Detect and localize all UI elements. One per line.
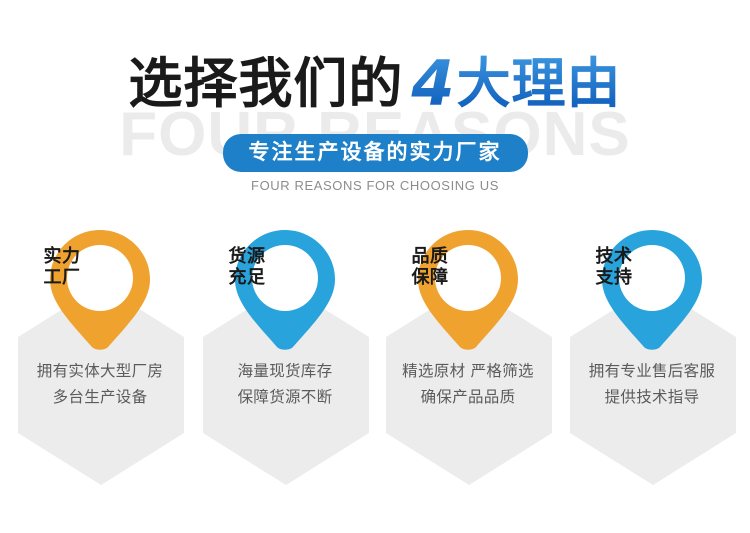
- promo-banner: FOUR REASONS 选择我们的4大理由 专注生产设备的实力厂家 FOUR …: [0, 0, 750, 533]
- title-suffix: 大理由: [457, 52, 622, 115]
- card-desc-line2: 提供技术指导: [562, 384, 742, 410]
- card-desc-line1: 拥有实体大型厂房: [10, 358, 190, 384]
- title-number: 4: [403, 47, 456, 120]
- card-description: 拥有专业售后客服 提供技术指导: [562, 358, 742, 410]
- badge-container: 专注生产设备的实力厂家: [0, 134, 750, 172]
- tagline-badge: 专注生产设备的实力厂家: [223, 134, 528, 172]
- reason-card: 货源 充足 海量现货库存 保障货源不断: [195, 228, 375, 528]
- header-section: FOUR REASONS 选择我们的4大理由 专注生产设备的实力厂家 FOUR …: [0, 0, 750, 215]
- title-prefix: 选择我们的: [128, 52, 403, 115]
- card-description: 拥有实体大型厂房 多台生产设备: [10, 358, 190, 410]
- card-desc-line2: 确保产品品质: [378, 384, 558, 410]
- subtitle-english: FOUR REASONS FOR CHOOSING US: [0, 178, 750, 193]
- reason-card: 品质 保障 精选原材 严格筛选 确保产品品质: [378, 228, 558, 528]
- card-desc-line2: 保障货源不断: [195, 384, 375, 410]
- card-desc-line1: 拥有专业售后客服: [562, 358, 742, 384]
- card-desc-line1: 海量现货库存: [195, 358, 375, 384]
- card-description: 精选原材 严格筛选 确保产品品质: [378, 358, 558, 410]
- page-title: 选择我们的4大理由: [0, 53, 750, 115]
- map-pin-icon: [416, 228, 520, 350]
- reason-cards: 实力 工厂 拥有实体大型厂房 多台生产设备 货源 充足 海量现货库: [0, 228, 750, 528]
- map-pin-icon: [600, 228, 704, 350]
- reason-card: 技术 支持 拥有专业售后客服 提供技术指导: [562, 228, 742, 528]
- card-description: 海量现货库存 保障货源不断: [195, 358, 375, 410]
- reason-card: 实力 工厂 拥有实体大型厂房 多台生产设备: [10, 228, 190, 528]
- map-pin-icon: [233, 228, 337, 350]
- card-desc-line2: 多台生产设备: [10, 384, 190, 410]
- map-pin-icon: [48, 228, 152, 350]
- card-desc-line1: 精选原材 严格筛选: [378, 358, 558, 384]
